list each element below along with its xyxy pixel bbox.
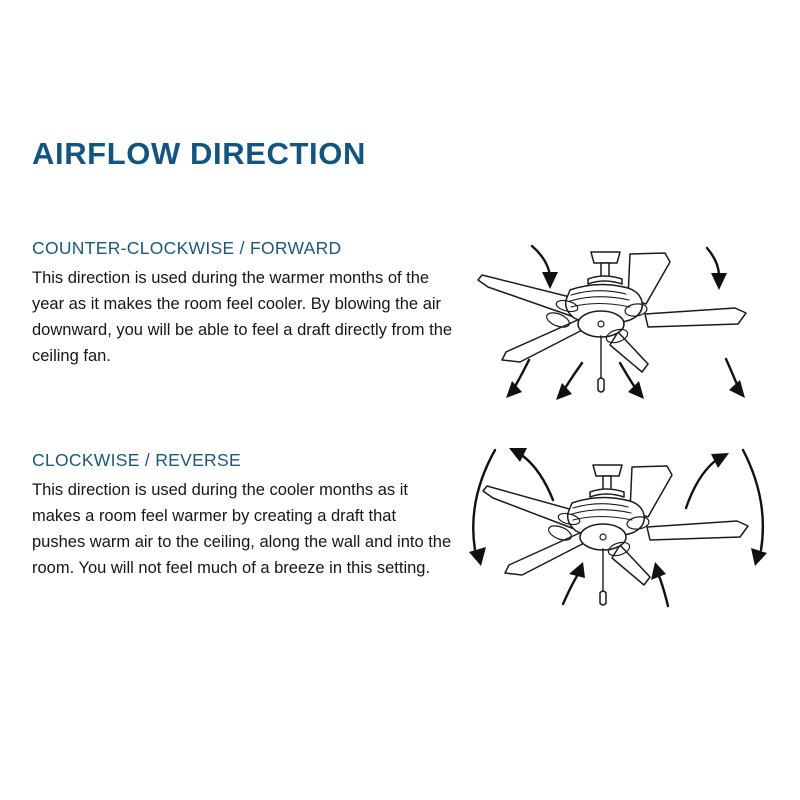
- section-forward: COUNTER-CLOCKWISE / FORWARD This directi…: [32, 238, 457, 369]
- page-title: AIRFLOW DIRECTION: [32, 138, 366, 171]
- section-heading-forward: COUNTER-CLOCKWISE / FORWARD: [32, 238, 457, 259]
- fan-ceiling-mount-icon: [590, 465, 624, 497]
- section-body-forward: This direction is used during the warmer…: [32, 265, 457, 369]
- ceiling-fan-reverse-illustration: [465, 428, 775, 628]
- fan-pull-chain: [598, 336, 604, 392]
- section-heading-reverse: CLOCKWISE / REVERSE: [32, 450, 457, 471]
- fan-ceiling-mount-icon: [588, 252, 622, 284]
- infographic-page: AIRFLOW DIRECTION COUNTER-CLOCKWISE / FO…: [0, 0, 800, 800]
- section-body-reverse: This direction is used during the cooler…: [32, 477, 452, 581]
- ceiling-fan-forward-illustration: [470, 232, 770, 412]
- section-reverse: CLOCKWISE / REVERSE This direction is us…: [32, 450, 457, 581]
- fan-pull-chain: [600, 549, 606, 605]
